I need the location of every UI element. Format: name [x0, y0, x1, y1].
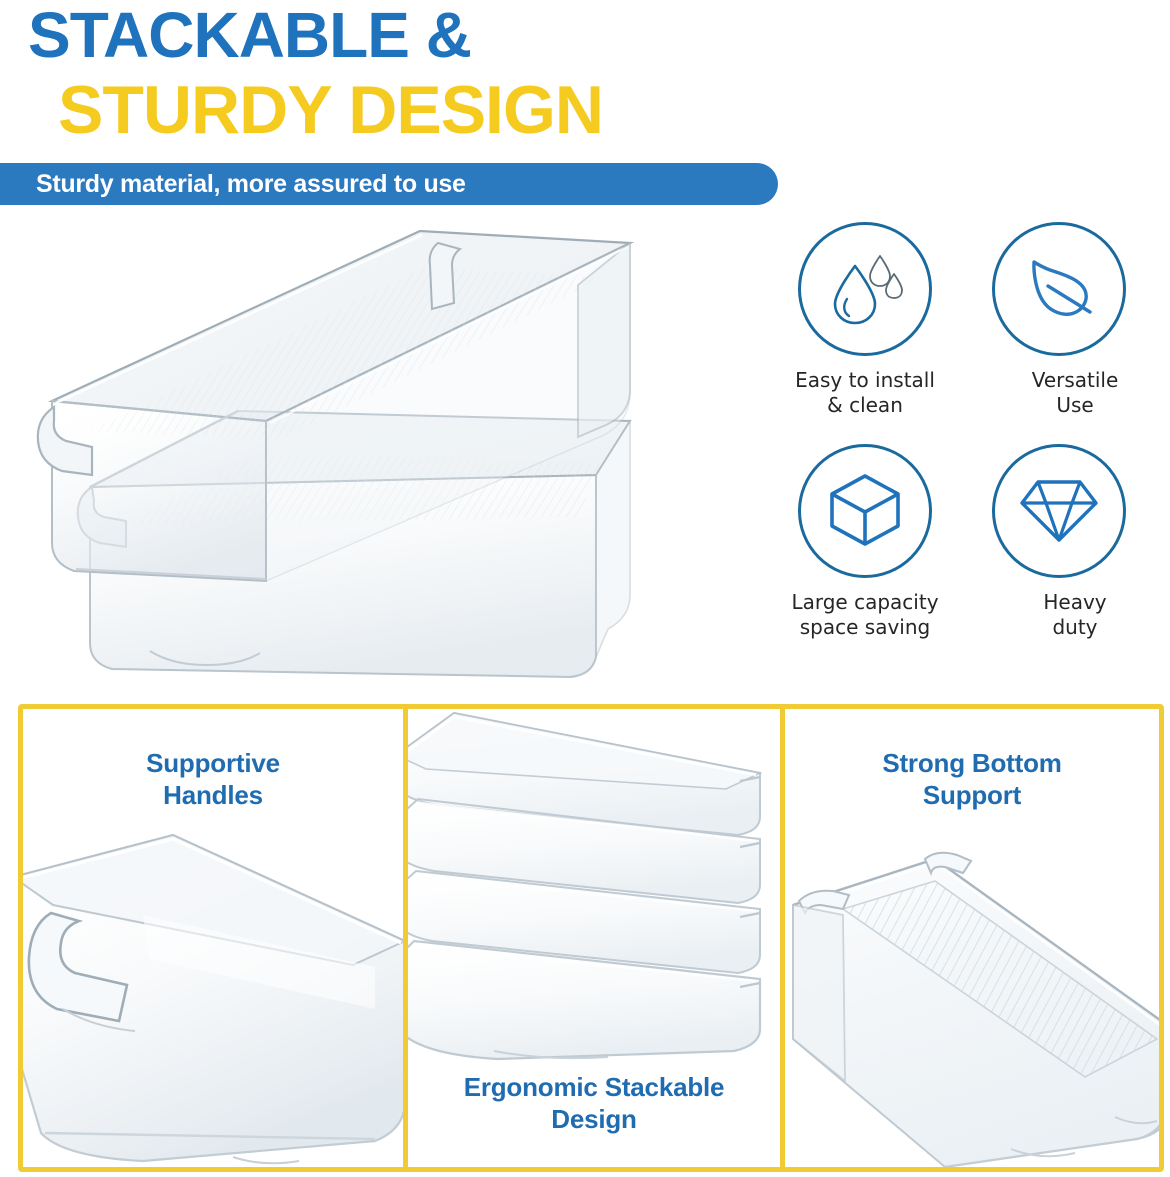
subtitle-banner: Sturdy material, more assured to use — [0, 163, 778, 205]
diamond-icon — [1018, 470, 1100, 553]
feature-icon-grid: Easy to install & clean Versatile Use — [770, 222, 1160, 652]
header: STACKABLE & STURDY DESIGN Sturdy materia… — [0, 0, 1170, 210]
panel-caption-1: Ergonomic Stackable Design — [408, 1071, 780, 1135]
feature-label-2-line2: space saving — [800, 615, 930, 639]
panel-supportive-handles: Supportive Handles — [23, 709, 403, 1167]
feature-label-0-line2: & clean — [827, 393, 903, 417]
feature-circle-2 — [798, 444, 932, 578]
panel-caption-2-line1: Strong Bottom — [882, 748, 1061, 778]
panel-caption-2-line2: Support — [923, 780, 1021, 810]
cube-icon — [826, 470, 904, 553]
hero-product-image — [30, 225, 670, 685]
feature-large-capacity: Large capacity space saving — [770, 444, 960, 640]
feature-label-0-line1: Easy to install — [795, 368, 935, 392]
feature-versatile-use: Versatile Use — [968, 222, 1158, 418]
feature-label-1-line2: Use — [1056, 393, 1093, 417]
feature-circle-0 — [798, 222, 932, 356]
feature-easy-to-install-clean: Easy to install & clean — [770, 222, 960, 418]
feature-heavy-duty: Heavy duty — [968, 444, 1158, 640]
feature-label-3-line2: duty — [1052, 615, 1097, 639]
panel-caption-2: Strong Bottom Support — [785, 747, 1159, 811]
feature-panel-row: Supportive Handles — [18, 704, 1164, 1172]
feature-circle-3 — [992, 444, 1126, 578]
feature-label-2-line1: Large capacity — [791, 590, 938, 614]
panel-caption-0: Supportive Handles — [23, 747, 403, 811]
panel-caption-0-line2: Handles — [163, 780, 263, 810]
feature-label-0: Easy to install & clean — [770, 368, 960, 418]
panel-caption-1-line2: Design — [551, 1104, 636, 1134]
feature-label-2: Large capacity space saving — [770, 590, 960, 640]
panel-caption-1-line1: Ergonomic Stackable — [464, 1072, 725, 1102]
page-title-line1: STACKABLE & — [28, 2, 471, 68]
page-title-line2: STURDY DESIGN — [58, 74, 603, 146]
feature-label-3: Heavy duty — [968, 590, 1158, 640]
feature-label-1-line1: Versatile — [1032, 368, 1119, 392]
subtitle-text: Sturdy material, more assured to use — [36, 163, 466, 205]
panel-caption-0-line1: Supportive — [146, 748, 280, 778]
feature-label-3-line1: Heavy — [1043, 590, 1106, 614]
feature-label-1: Versatile Use — [968, 368, 1158, 418]
panel-strong-bottom-support: Strong Bottom Support — [785, 709, 1159, 1167]
leaf-icon — [1018, 246, 1100, 333]
water-droplet-icon — [822, 244, 908, 335]
panel-ergonomic-stackable-design: Ergonomic Stackable Design — [408, 709, 780, 1167]
feature-circle-1 — [992, 222, 1126, 356]
